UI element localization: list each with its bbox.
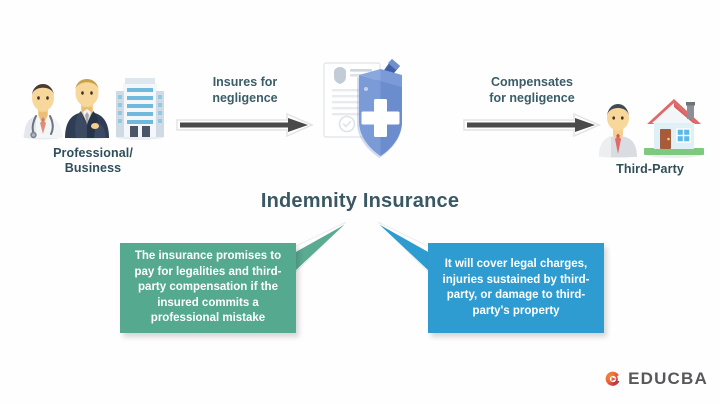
- educba-circle-play-icon: [604, 365, 622, 393]
- doctor-icon: [20, 68, 66, 140]
- professional-label-line1: Professional/: [18, 146, 168, 161]
- arrow-right-icon: [462, 112, 602, 138]
- callout-green-text: The insurance promises to pay for legali…: [132, 249, 284, 327]
- businessman-icon: [62, 62, 112, 140]
- arrow-compensates-group: Compensates for negligence: [462, 74, 602, 143]
- person-icon: [595, 92, 641, 158]
- callout-green: The insurance promises to pay for legali…: [120, 243, 296, 333]
- callout-tail-blue: [378, 222, 434, 284]
- professional-business-group: Professional/ Business: [18, 62, 168, 176]
- arrow-insures-label: Insures for negligence: [175, 74, 315, 106]
- professional-business-label: Professional/ Business: [18, 146, 168, 176]
- professional-label-line2: Business: [18, 161, 168, 176]
- shield-plus-icon: [357, 69, 402, 158]
- callout-tail-green: [290, 222, 346, 284]
- arrow-compensates-line1: Compensates: [462, 74, 602, 90]
- arrow-compensates-line2: for negligence: [462, 90, 602, 106]
- third-party-icons: [590, 80, 710, 158]
- page-title: Indemnity Insurance: [210, 190, 510, 213]
- arrow-right-icon: [175, 112, 315, 138]
- educba-logo: EDUCBA: [604, 362, 708, 396]
- office-building-icon: [114, 64, 166, 140]
- professional-icons: [18, 62, 168, 140]
- third-party-group: Third-Party: [590, 80, 710, 177]
- indemnity-insurance-icon-group: [306, 55, 466, 175]
- arrow-compensates-label: Compensates for negligence: [462, 74, 602, 106]
- arrow-insures-group: Insures for negligence: [175, 74, 315, 143]
- educba-wordmark: EDUCBA: [628, 369, 708, 389]
- arrow-insures-line2: negligence: [175, 90, 315, 106]
- infographic-canvas: Professional/ Business Insures for negli…: [0, 0, 720, 404]
- callout-blue-text: It will cover legal charges, injuries su…: [440, 257, 592, 319]
- house-icon: [643, 96, 705, 158]
- callout-blue: It will cover legal charges, injuries su…: [428, 243, 604, 333]
- arrow-insures-line1: Insures for: [175, 74, 315, 90]
- third-party-label: Third-Party: [590, 162, 710, 177]
